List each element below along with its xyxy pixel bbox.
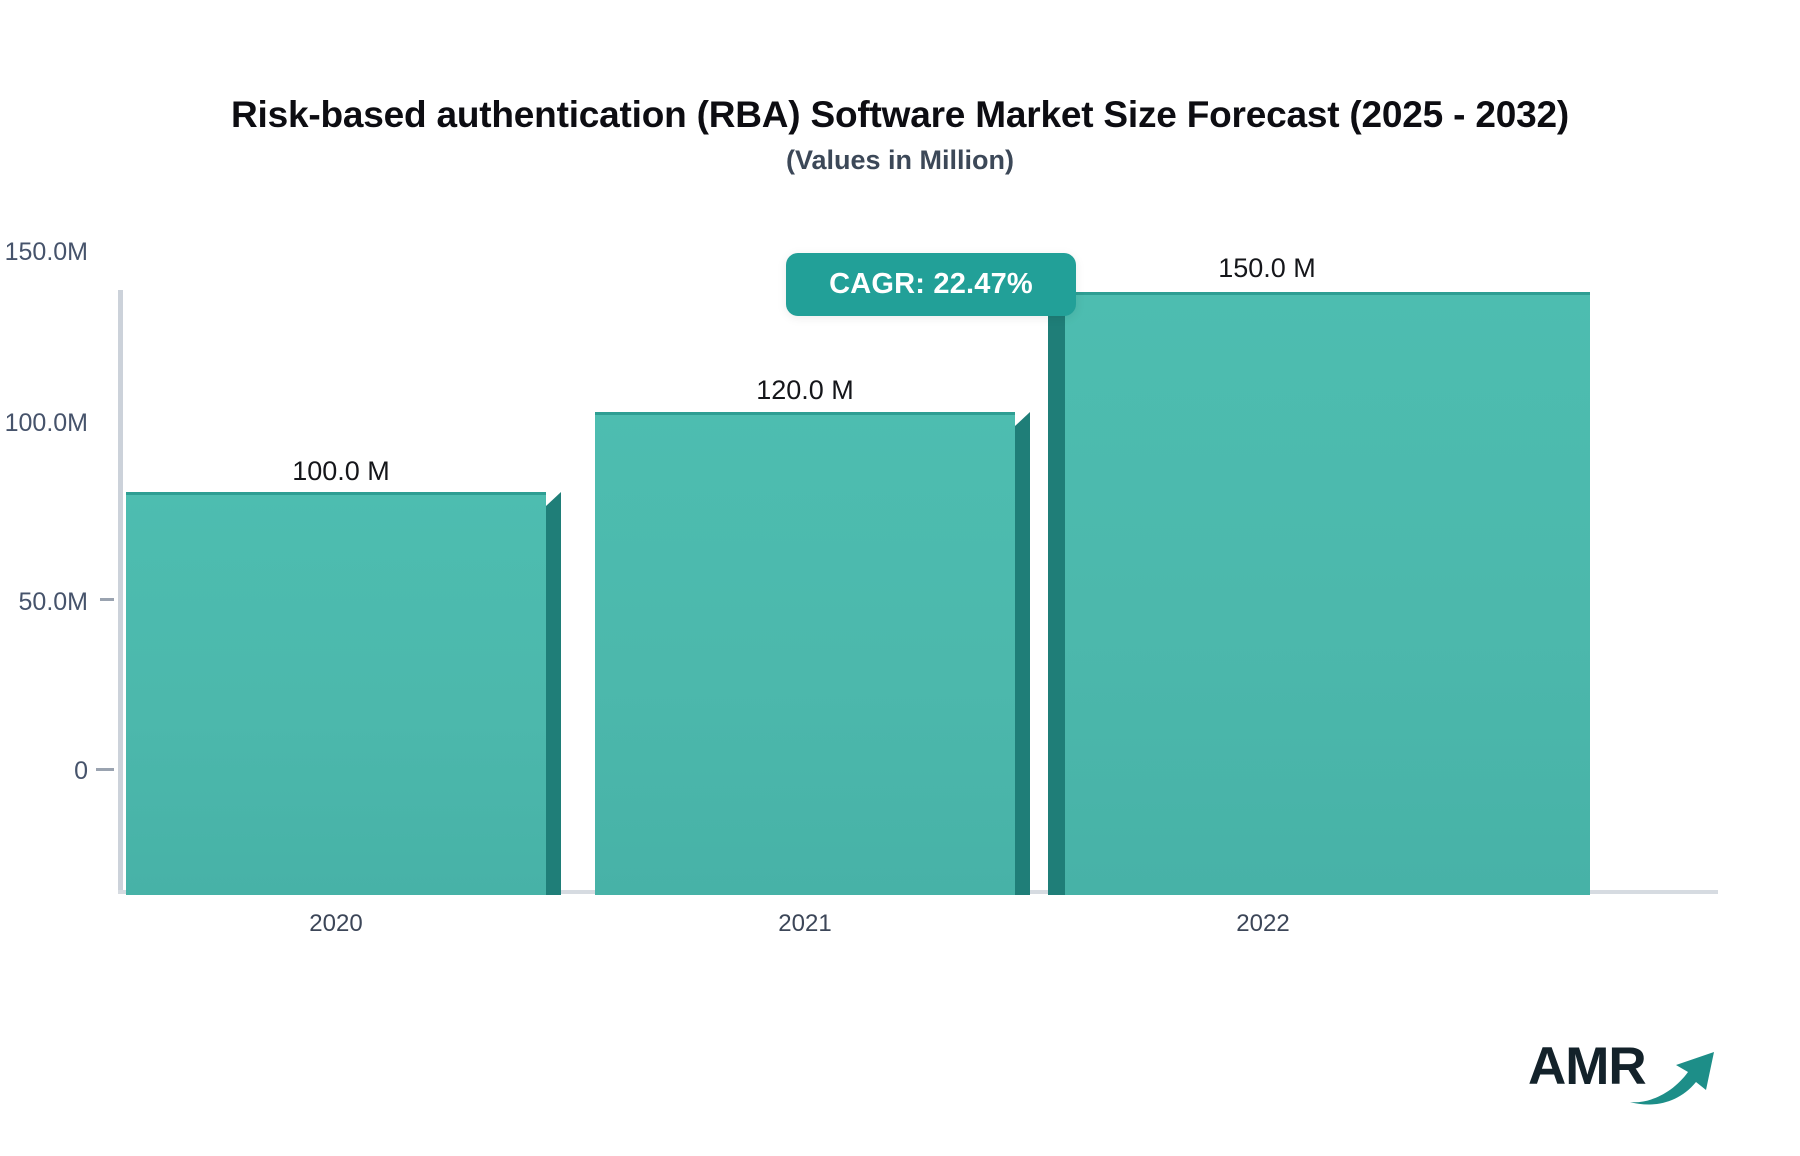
chart-canvas: Risk-based authentication (RBA) Software… [0,0,1800,1156]
y-tick-label-0: 0 [0,757,88,786]
bar-2021-side-shade [1015,412,1030,895]
bar-2020[interactable] [126,492,546,895]
amr-logo: AMR [1528,1038,1718,1108]
growth-arrow-icon [1628,1046,1718,1108]
y-tick-label-50: 50.0M [0,588,88,617]
x-tick-label-2020: 2020 [241,910,431,938]
bar-value-label-2022: 150.0 M [1172,253,1362,284]
bar-2020-side-shade [546,492,561,895]
bar-value-label-2020: 100.0 M [246,456,436,487]
y-tick-mark-0 [96,768,114,771]
bar-value-label-2021: 120.0 M [710,375,900,406]
bar-2021-face [595,412,1015,895]
bar-2022[interactable] [1065,292,1590,895]
bar-2021-top-edge [595,412,1015,415]
x-tick-label-2022: 2022 [1168,910,1358,938]
bar-2022-side-shade [1048,292,1065,895]
bar-2020-face [126,492,546,895]
x-tick-label-2021: 2021 [710,910,900,938]
bar-2022-top-edge [1065,292,1590,295]
bar-2021[interactable] [595,412,1015,895]
plot-area [118,290,1718,895]
chart-title: Risk-based authentication (RBA) Software… [0,94,1800,136]
y-tick-label-150: 150.0M [0,238,88,267]
chart-subtitle: (Values in Million) [0,145,1800,176]
y-tick-mark-50 [100,598,114,601]
bar-2020-top-edge [126,492,546,495]
bar-2022-face [1065,292,1590,895]
y-tick-label-100: 100.0M [0,409,88,438]
cagr-badge-label: CAGR: 22.47% [829,268,1033,301]
cagr-badge: CAGR: 22.47% [786,253,1076,316]
